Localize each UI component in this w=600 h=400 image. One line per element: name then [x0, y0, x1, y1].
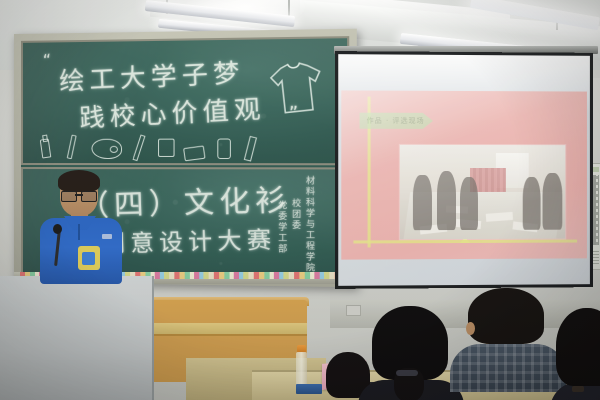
- blackboard-credit-college: 材料科学与工程学院: [303, 176, 316, 274]
- presenter-shirt-logo: [102, 234, 112, 239]
- metal-cabinet: [0, 276, 154, 400]
- presenter: [38, 172, 128, 282]
- slide-banner-label: 作品 · 评选现场: [359, 113, 432, 129]
- photo-person: [460, 177, 478, 230]
- slide-banner-text: 作品 · 评选现场: [367, 116, 425, 126]
- blackboard-quote-open: “: [42, 50, 52, 70]
- slide-photo: [400, 145, 565, 239]
- light-hanger: [288, 0, 290, 16]
- t-shirt-doodle: [268, 57, 324, 118]
- ink-bottle-doodle: [217, 138, 231, 159]
- paint-can-doodle: [158, 139, 175, 157]
- blackboard-credit-party-office: 党委学工部: [275, 200, 288, 254]
- wall-socket: [346, 305, 361, 316]
- photo-person: [437, 171, 457, 229]
- audience-ear: [466, 322, 475, 335]
- blackboard-top-panel: “ 绘工大学子梦 践校心价值观 ”: [21, 36, 349, 165]
- projector-screen: 作品 · 评选现场: [335, 51, 593, 289]
- projected-slide: 作品 · 评选现场: [341, 90, 587, 259]
- audience-member: [366, 306, 454, 400]
- photo-person: [413, 175, 431, 230]
- audience-member: [556, 308, 600, 400]
- glasses-icon: [61, 191, 97, 200]
- audience-hair: [468, 288, 544, 344]
- classroom-scene: “ 绘工大学子梦 践校心价值观 ”: [0, 0, 600, 400]
- paint-can-doodle: [183, 145, 206, 161]
- notebook: [296, 384, 322, 394]
- photo-paper: [486, 212, 513, 221]
- audience-plaid-shirt: [450, 344, 566, 392]
- audience-hair-tie: [396, 370, 418, 376]
- blackboard-credit-youth-league: 校团委: [289, 198, 302, 231]
- lectern-edge: [152, 334, 307, 336]
- microphone-icon: [53, 224, 62, 234]
- photo-person: [542, 173, 562, 229]
- audience-hair: [556, 308, 600, 386]
- presenter-placket: [78, 224, 80, 240]
- glasses-bridge: [75, 194, 83, 196]
- audience-wristwatch: [572, 386, 584, 392]
- lectern-band: [152, 323, 307, 334]
- presenter-hair: [58, 170, 100, 192]
- water-bottle: [296, 352, 307, 386]
- photo-person: [523, 177, 541, 229]
- audience-member: [460, 288, 556, 400]
- palette-doodle: [91, 139, 122, 159]
- presenter-shirt-graphic-inner: [82, 252, 95, 265]
